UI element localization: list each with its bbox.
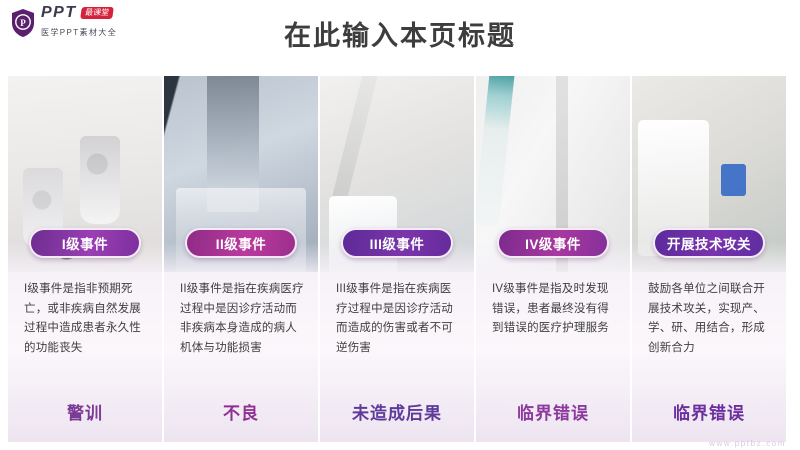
event-keyword-1: 警训 xyxy=(8,399,162,424)
event-keyword-5: 临界错误 xyxy=(632,399,786,424)
watermark: www.pptbz.com xyxy=(709,439,786,448)
event-column-5[interactable]: 开展技术攻关 鼓励各单位之间联合开展技术攻关，实现产、学、研、用结合，形成创新合… xyxy=(632,76,786,442)
event-keyword-3: 未造成后果 xyxy=(320,399,474,424)
event-column-1[interactable]: I级事件 I级事件是指非预期死亡，或非疾病自然发展过程中造成患者永久性的功能丧失… xyxy=(8,76,162,442)
event-description-2: II级事件是指在疾病医疗过程中是因诊疗活动而非疾病本身造成的病人机体与功能损害 xyxy=(180,280,304,358)
event-column-3[interactable]: III级事件 III级事件是指在疾病医疗过程中是因诊疗活动而造成的伤害或者不可逆… xyxy=(320,76,474,442)
event-level-columns: I级事件 I级事件是指非预期死亡，或非疾病自然发展过程中造成患者永久性的功能丧失… xyxy=(8,76,792,442)
event-description-1: I级事件是指非预期死亡，或非疾病自然发展过程中造成患者永久性的功能丧失 xyxy=(24,280,148,358)
event-badge-3[interactable]: III级事件 xyxy=(341,228,453,258)
event-badge-5[interactable]: 开展技术攻关 xyxy=(653,228,765,258)
event-badge-1[interactable]: I级事件 xyxy=(29,228,141,258)
event-description-5: 鼓励各单位之间联合开展技术攻关，实现产、学、研、用结合，形成创新合力 xyxy=(648,280,772,358)
event-column-4[interactable]: IV级事件 IV级事件是指及时发现错误，患者最终没有得到错误的医疗护理服务 临界… xyxy=(476,76,630,442)
event-column-2[interactable]: II级事件 II级事件是指在疾病医疗过程中是因诊疗活动而非疾病本身造成的病人机体… xyxy=(164,76,318,442)
event-badge-4[interactable]: IV级事件 xyxy=(497,228,609,258)
event-badge-2[interactable]: II级事件 xyxy=(185,228,297,258)
event-keyword-2: 不良 xyxy=(164,399,318,424)
event-description-4: IV级事件是指及时发现错误，患者最终没有得到错误的医疗护理服务 xyxy=(492,280,616,339)
event-description-3: III级事件是指在疾病医疗过程中是因诊疗活动而造成的伤害或者不可逆伤害 xyxy=(336,280,460,358)
event-keyword-4: 临界错误 xyxy=(476,399,630,424)
page-title: 在此输入本页标题 xyxy=(0,14,800,53)
page-header: P PPT 最课堂 医学PPT素材大全 在此输入本页标题 xyxy=(0,0,800,70)
